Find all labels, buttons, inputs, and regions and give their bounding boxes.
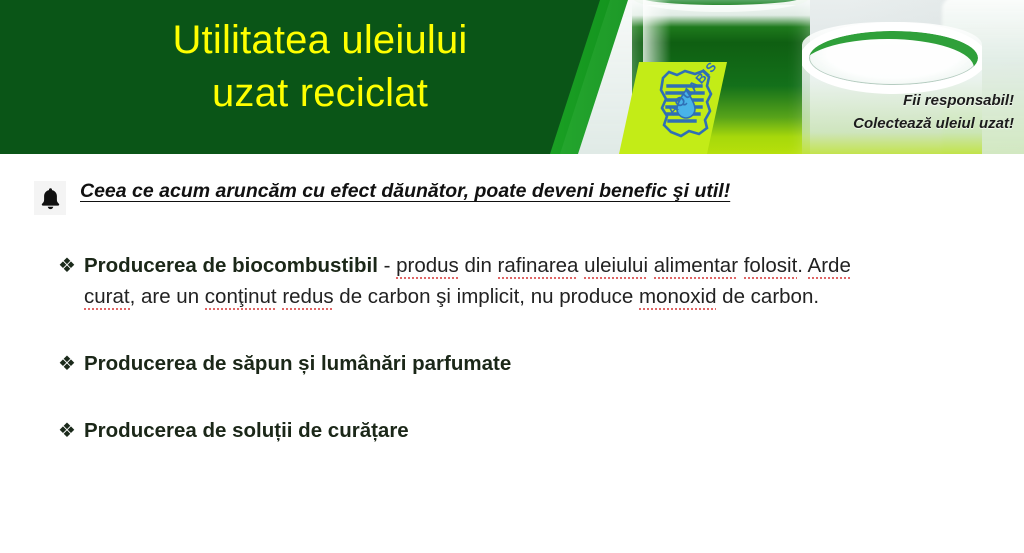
bullet-text-2: Producerea de soluții de curățare [84,415,409,446]
bullet-list: ❖ Producerea de biocombustibil - produs … [58,250,958,483]
bullet-text-1: Producerea de săpun și lumânări parfumat… [84,348,511,379]
bullet-body-text: de carbon. [716,285,819,308]
slide-header-banner: Utilitatea uleiului uzat reciclat AQUABI… [0,0,1024,154]
bullet-body-text: de carbon şi implicit, nu produce [334,285,639,308]
tagline-block: Fii responsabil! Colectează uleiul uzat! [853,90,1014,136]
bullet-body-text: . [797,254,807,277]
spellcheck-word: monoxid [639,285,717,310]
spellcheck-word: curat [84,285,130,310]
bullet-body-text: din [459,254,498,277]
spellcheck-word: uleiului [584,254,648,279]
tagline-line2: Colectează uleiul uzat! [853,113,1014,136]
list-item: ❖ Producerea de soluții de curățare [58,415,958,446]
spellcheck-word: conţinut [205,285,277,310]
list-item: ❖ Producerea de săpun și lumânări parfum… [58,348,958,379]
slide-content: Ceea ce acum aruncăm cu efect dăunător, … [0,154,1024,553]
diamond-bullet-icon: ❖ [58,348,84,378]
test-tube-rim [632,0,810,12]
bullet-body-text: , are un [130,285,205,308]
bullet-text-0: Producerea de biocombustibil - produs di… [84,250,904,312]
bullet-lead-text: Producerea de săpun și lumânări parfumat… [84,352,511,375]
diamond-bullet-icon: ❖ [58,250,84,280]
bullet-separator: - [378,254,396,277]
slide-title-line1: Utilitatea uleiului [172,18,467,62]
spellcheck-word: produs [396,254,459,279]
slide-title: Utilitatea uleiului uzat reciclat [60,14,580,120]
bullet-lead-text: Producerea de soluții de curățare [84,419,409,442]
bullet-body-text [648,254,654,277]
headline-row: Ceea ce acum aruncăm cu efect dăunător, … [34,180,730,215]
spellcheck-word: rafinarea [498,254,579,279]
list-item: ❖ Producerea de biocombustibil - produs … [58,250,958,312]
spellcheck-word: alimentar [654,254,738,279]
test-tube-rim-foreground [802,22,982,94]
spellcheck-word: folosit [744,254,798,279]
tagline-line1: Fii responsabil! [853,90,1014,113]
bullet-lead-text: Producerea de biocombustibil [84,254,378,277]
spellcheck-word: Arde [808,254,851,279]
bullet-body-text [738,254,744,277]
bell-icon-container [34,181,66,215]
slide-title-line2: uzat reciclat [212,71,428,115]
bell-icon [40,187,61,210]
diamond-bullet-icon: ❖ [58,415,84,445]
spellcheck-word: redus [282,285,333,310]
headline-text: Ceea ce acum aruncăm cu efect dăunător, … [80,180,730,203]
